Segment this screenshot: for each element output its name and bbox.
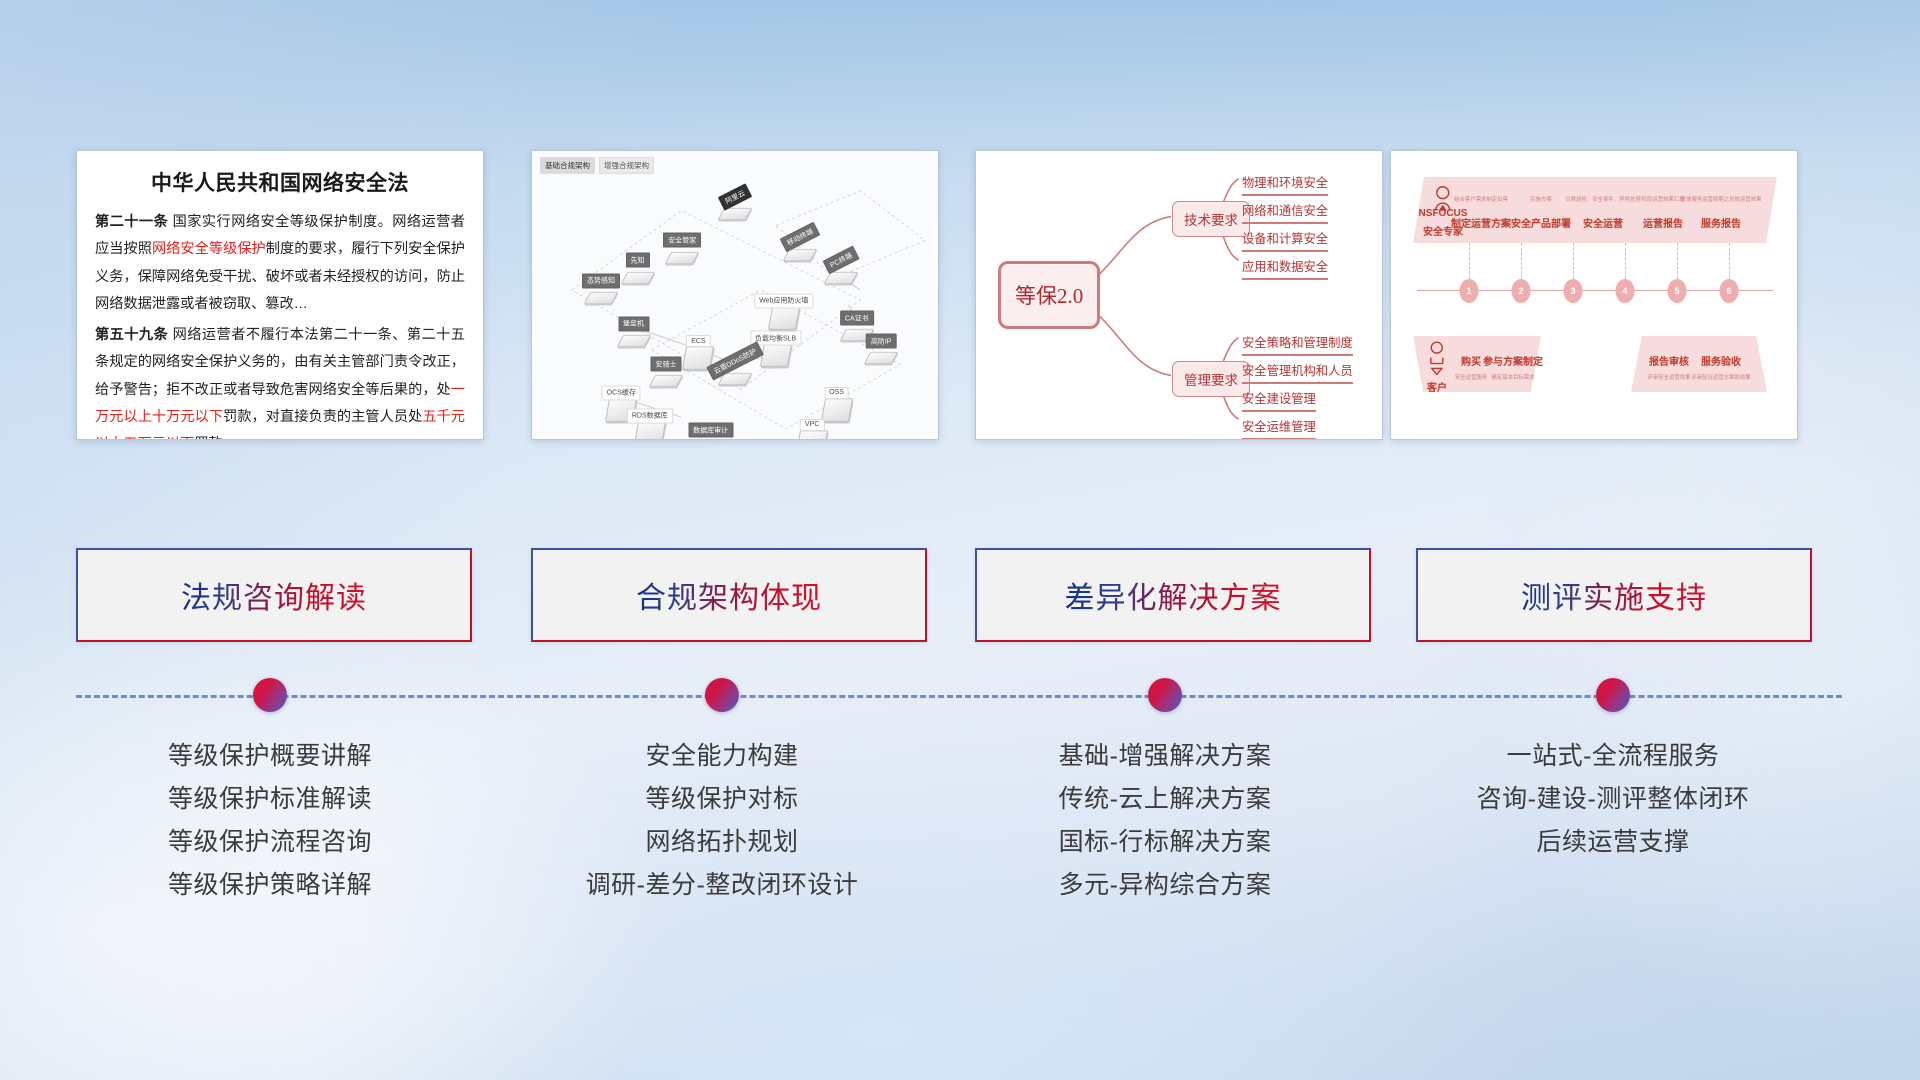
detail-list-item: 等级保护概要讲解 [35, 735, 505, 778]
operations-step-number[interactable]: 2 [1512, 279, 1531, 303]
operations-provider-step-sub: 实施方案 [1530, 195, 1552, 203]
operations-provider-step-sub: 总体服务运营周期之总体运营效果 [1681, 195, 1762, 203]
heading-box-differentiated-solution[interactable]: 差异化解决方案 [975, 548, 1371, 642]
mindmap-branch-management[interactable]: 管理要求 [1172, 361, 1250, 397]
detail-list-item: 国标-行标解决方案 [930, 821, 1400, 864]
detail-list-item: 咨询-建设-测评整体闭环 [1378, 778, 1848, 821]
law-article-59-text-3: 罚款。 [194, 436, 237, 440]
operations-step-tick [1469, 243, 1470, 279]
architecture-node-label: 高防IP [866, 334, 897, 349]
architecture-node-shape [620, 333, 648, 350]
architecture-tab-enhanced[interactable]: 增强合规架构 [599, 157, 654, 174]
section-heading-row: 法规咨询解读 合规架构体现 差异化解决方案 测评实施支持 [0, 548, 1920, 648]
architecture-tab-group[interactable]: 基础合规架构 增强合规架构 [540, 157, 654, 174]
architecture-node-label: 先知 [626, 253, 650, 268]
architecture-node-shape [587, 289, 615, 306]
detail-list-item: 传统-云上解决方案 [930, 778, 1400, 821]
operations-step-tick [1625, 243, 1626, 279]
architecture-node-shape [652, 373, 680, 390]
operations-provider-step-sub: 结合客户需求制定出具 [1454, 195, 1508, 203]
architecture-node-label: 数据库审计 [688, 423, 733, 438]
detail-list-item: 安全能力构建 [487, 735, 957, 778]
architecture-node-label: OSS [824, 387, 849, 399]
architecture-node-label: Web应用防火墙 [754, 293, 813, 308]
architecture-node-label: 安全管家 [663, 233, 701, 248]
card-cybersecurity-law[interactable]: 中华人民共和国网络安全法 第二十一条 国家实行网络安全等级保护制度。网络运营者应… [76, 150, 484, 440]
law-article-59-text-2: 罚款，对直接负责的主管人员处 [223, 409, 422, 425]
law-text-body: 中华人民共和国网络安全法 第二十一条 国家实行网络安全等级保护制度。网络运营者应… [77, 151, 483, 440]
operations-provider-step-sub: 日常巡检、安全事件、异常处理 [1565, 195, 1640, 203]
architecture-node-label: CA证书 [840, 311, 874, 326]
architecture-node-shape [770, 305, 798, 331]
architecture-node-shape [697, 439, 725, 440]
architecture-diagram: 基础合规架构 增强合规架构 阿里云安全管家先知态势感知堡垒机ECS [532, 151, 938, 439]
architecture-node-label: 安骑士 [650, 357, 681, 372]
timeline-dashed-line [76, 695, 1842, 698]
architecture-node-shape [867, 350, 895, 367]
operations-customer-role: 客户 [1427, 379, 1447, 394]
operations-customer-step-title: 参与方案制定 [1483, 353, 1543, 368]
operations-diagram: 制定运营方案结合客户需求制定出具安全产品部署实施方案安全运营日常巡检、安全事件、… [1391, 151, 1797, 439]
detail-list-item: 等级保护流程咨询 [35, 821, 505, 864]
law-article-21: 第二十一条 国家实行网络安全等级保护制度。网络运营者应当按照网络安全等级保护制度… [95, 209, 465, 318]
mindmap-leaf[interactable]: 应用和数据安全 [1242, 257, 1328, 280]
architecture-node-shape [762, 342, 790, 368]
illustration-card-row: 中华人民共和国网络安全法 第二十一条 国家实行网络安全等级保护制度。网络运营者应… [0, 150, 1920, 440]
operations-step-tick [1677, 243, 1678, 279]
detail-list-regulation-consulting: 等级保护概要讲解等级保护标准解读等级保护流程咨询等级保护策略详解 [35, 735, 505, 907]
operations-step-number[interactable]: 5 [1668, 279, 1687, 303]
detail-list-compliance-architecture: 安全能力构建等级保护对标网络拓扑规划调研-差分-整改闭环设计 [487, 735, 957, 907]
heading-box-assessment-support[interactable]: 测评实施支持 [1416, 548, 1812, 642]
detail-list-differentiated-solution: 基础-增强解决方案传统-云上解决方案国标-行标解决方案多元-异构综合方案 [930, 735, 1400, 907]
mindmap-leaf[interactable]: 网络和通信安全 [1242, 201, 1328, 224]
operations-step-tick [1521, 243, 1522, 279]
detail-list-item: 一站式-全流程服务 [1378, 735, 1848, 778]
card-djcp-mindmap[interactable]: 等保2.0 技术要求物理和环境安全网络和通信安全设备和计算安全应用和数据安全管理… [975, 150, 1383, 440]
operations-customer-step-sub: 安全运营服务 [1455, 373, 1487, 381]
heading-label-0: 法规咨询解读 [181, 573, 367, 617]
operations-provider-step-title: 安全产品部署 [1511, 215, 1571, 230]
operations-step-tick [1573, 243, 1574, 279]
timeline-dot-3[interactable] [1596, 678, 1630, 712]
mindmap-root-node[interactable]: 等保2.0 [998, 261, 1100, 329]
operations-customer-step-title: 购买 [1461, 353, 1481, 368]
operations-step-tick [1729, 243, 1730, 279]
operations-provider-step-sub: 阶段运营效果汇报 [1641, 195, 1684, 203]
operations-customer-step-title: 服务验收 [1701, 353, 1741, 368]
mindmap-leaf[interactable]: 安全策略和管理制度 [1242, 333, 1353, 356]
timeline-dot-1[interactable] [705, 678, 739, 712]
detail-list-item: 调研-差分-整改闭环设计 [487, 864, 957, 907]
architecture-node-label: RDS数据库 [627, 408, 673, 423]
card-security-operations[interactable]: 制定运营方案结合客户需求制定出具安全产品部署实施方案安全运营日常巡检、安全事件、… [1390, 150, 1798, 440]
operations-provider-name: NSFOCUS [1419, 208, 1468, 219]
detail-list-assessment-support: 一站式-全流程服务咨询-建设-测评整体闭环后续运营支撑 [1378, 735, 1848, 864]
architecture-node-shape [823, 397, 851, 423]
mindmap-leaf[interactable]: 安全管理机构和人员 [1242, 361, 1353, 384]
heading-label-2: 差异化解决方案 [1065, 573, 1282, 617]
law-article-21-label: 第二十一条 [95, 214, 168, 230]
law-title: 中华人民共和国网络安全法 [95, 167, 465, 197]
detail-list-item: 网络拓扑规划 [487, 821, 957, 864]
heading-box-regulation-consulting[interactable]: 法规咨询解读 [76, 548, 472, 642]
detail-list-item: 后续运营支撑 [1378, 821, 1848, 864]
operations-customer-step-title: 报告审核 [1649, 353, 1689, 368]
mindmap-leaf[interactable]: 物理和环境安全 [1242, 173, 1328, 196]
architecture-node-label: 态势感知 [582, 273, 620, 288]
mindmap-leaf[interactable]: 安全运维管理 [1242, 417, 1316, 440]
timeline-dot-0[interactable] [253, 678, 287, 712]
architecture-node-shape [624, 269, 652, 286]
operations-provider-step-title: 服务报告 [1701, 215, 1741, 230]
heading-label-3: 测评实施支持 [1521, 573, 1707, 617]
mindmap-leaf[interactable]: 安全建设管理 [1242, 389, 1316, 412]
operations-step-number[interactable]: 6 [1720, 279, 1739, 303]
timeline-dot-2[interactable] [1148, 678, 1182, 712]
detail-list-item: 基础-增强解决方案 [930, 735, 1400, 778]
operations-provider-step-title: 运营报告 [1643, 215, 1683, 230]
mindmap-branch-technical[interactable]: 技术要求 [1172, 201, 1250, 237]
detail-list-item: 等级保护对标 [487, 778, 957, 821]
law-article-59-label: 第五十九条 [95, 327, 168, 343]
slide-stage: 中华人民共和国网络安全法 第二十一条 国家实行网络安全等级保护制度。网络运营者应… [0, 0, 1920, 1080]
law-article-59: 第五十九条 网络运营者不履行本法第二十一条、第二十五条规定的网络安全保护义务的，… [95, 322, 465, 440]
operations-provider-step-title: 安全运营 [1583, 215, 1623, 230]
operations-step-number[interactable]: 4 [1616, 279, 1635, 303]
detail-list-item: 等级保护策略详解 [35, 864, 505, 907]
architecture-node-label: ECS [686, 335, 710, 347]
detail-list-item: 等级保护标准解读 [35, 778, 505, 821]
detail-list-item: 多元-异构综合方案 [930, 864, 1400, 907]
heading-box-compliance-architecture[interactable]: 合规架构体现 [531, 548, 927, 642]
architecture-node-label: OCS缓存 [602, 385, 641, 400]
architecture-node-label: 堡垒机 [618, 316, 649, 331]
law-article-21-highlight: 网络安全等级保护 [152, 241, 266, 257]
heading-label-1: 合规架构体现 [636, 573, 822, 617]
architecture-tab-basic[interactable]: 基础合规架构 [540, 157, 595, 174]
operations-customer-step-sub: 评审验证运营方案和效果 [1691, 373, 1750, 381]
mindmap-canvas: 等保2.0 技术要求物理和环境安全网络和通信安全设备和计算安全应用和数据安全管理… [976, 151, 1382, 439]
architecture-node-label: VPC [800, 419, 824, 431]
operations-step-number[interactable]: 1 [1460, 279, 1479, 303]
operations-step-number[interactable]: 3 [1564, 279, 1583, 303]
operations-customer-step-sub: 确定基本目标需求 [1491, 373, 1534, 381]
architecture-node-shape [668, 249, 696, 266]
card-compliance-architecture[interactable]: 基础合规架构 增强合规架构 阿里云安全管家先知态势感知堡垒机ECS [531, 150, 939, 440]
operations-customer-step-sub: 评审安全运营效果 [1647, 373, 1690, 381]
operations-provider-role: 安全专家 [1423, 223, 1463, 238]
operations-provider-band [1413, 177, 1777, 243]
mindmap-leaf[interactable]: 设备和计算安全 [1242, 229, 1328, 252]
